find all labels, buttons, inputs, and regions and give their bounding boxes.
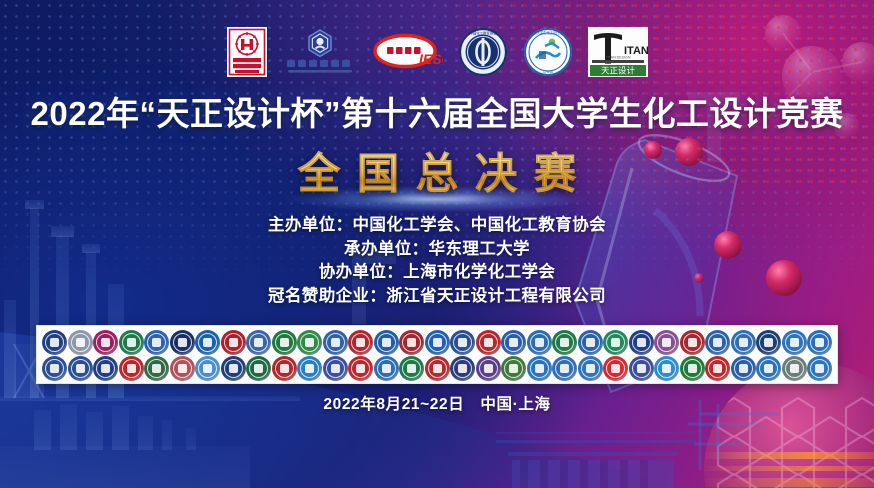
university-emblem (374, 356, 399, 381)
university-emblem (629, 356, 654, 381)
university-emblem (654, 356, 679, 381)
university-emblem (399, 330, 424, 355)
university-emblem (42, 356, 67, 381)
university-emblem (756, 356, 781, 381)
svg-text:IESC: IESC (419, 51, 443, 67)
university-emblem (654, 330, 679, 355)
university-emblem (501, 330, 526, 355)
emblem-row-top (42, 329, 832, 355)
university-emblem (552, 356, 577, 381)
university-emblem (680, 356, 705, 381)
university-emblem (195, 356, 220, 381)
university-emblem (119, 356, 144, 381)
university-emblem (323, 330, 348, 355)
university-emblem (144, 330, 169, 355)
university-emblem (195, 330, 220, 355)
svg-text:CHINA: CHINA (543, 70, 554, 74)
building-facade (496, 424, 774, 488)
university-emblem (782, 356, 807, 381)
university-emblem (501, 356, 526, 381)
info-line-title-sponsor: 冠名赞助企业：浙江省天正设计工程有限公司 (0, 285, 874, 309)
university-emblem (476, 356, 501, 381)
emblem-row-bottom (42, 355, 832, 381)
university-emblem (42, 330, 67, 355)
university-emblem (246, 330, 271, 355)
university-emblem (731, 356, 756, 381)
university-emblem (629, 330, 654, 355)
chemical-education-assoc-logo: 中国化工教育协会 (458, 27, 508, 77)
info-line-coorganizer: 协办单位：上海市化学化工学会 (0, 261, 874, 285)
info-line-undertaker: 承办单位：华东理工大学 (0, 238, 874, 262)
university-emblem (603, 330, 628, 355)
university-emblem (170, 330, 195, 355)
university-emblem (246, 356, 271, 381)
university-emblem (527, 356, 552, 381)
university-emblem (782, 330, 807, 355)
svg-text:中国化工教育协会: 中国化工教育协会 (469, 30, 497, 35)
university-emblem (731, 330, 756, 355)
university-emblem (807, 330, 832, 355)
university-emblem (680, 330, 705, 355)
page-title: 2022年“天正设计杯”第十六届全国大学生化工设计竞赛 (0, 96, 874, 132)
university-emblem (221, 356, 246, 381)
university-emblem (297, 356, 322, 381)
university-emblem (425, 356, 450, 381)
university-emblem (578, 356, 603, 381)
organizer-info-block: 主办单位：中国化工学会、中国化工教育协会 承办单位：华东理工大学 协办单位：上海… (0, 214, 874, 308)
university-emblem (603, 356, 628, 381)
university-emblem (450, 356, 475, 381)
ciesc-logo: IESC (373, 27, 443, 77)
university-emblem (119, 330, 144, 355)
sub-title: 全国总决赛 (0, 146, 874, 203)
university-emblem (807, 356, 832, 381)
university-emblem (323, 356, 348, 381)
shanghai-chemical-society-logo (282, 27, 358, 77)
titan-design-logo: ITAN TITAN DESIGN 天正设计 (588, 27, 648, 77)
university-emblem (374, 330, 399, 355)
sponsor-logo-row: IESC 中国化工教育协会 (0, 26, 874, 78)
ecust-70th-anniversary-logo (227, 27, 267, 77)
university-emblem (552, 330, 577, 355)
university-emblem-strip (36, 325, 838, 384)
university-emblem (705, 356, 730, 381)
competition-organizer-logo: 全国大学生化工设计竞赛 CHINA (523, 27, 573, 77)
university-emblem (93, 356, 118, 381)
university-emblem (93, 330, 118, 355)
university-emblem (272, 330, 297, 355)
university-emblem (705, 330, 730, 355)
poster-banner: IESC 中国化工教育协会 (0, 0, 874, 488)
university-emblem (221, 330, 246, 355)
university-emblem (756, 330, 781, 355)
svg-text:TITAN DESIGN: TITAN DESIGN (605, 56, 630, 60)
university-emblem (170, 356, 195, 381)
university-emblem (297, 330, 322, 355)
university-emblem (399, 356, 424, 381)
university-emblem (425, 330, 450, 355)
university-emblem (348, 356, 373, 381)
university-emblem (144, 356, 169, 381)
university-emblem (68, 356, 93, 381)
university-emblem (348, 330, 373, 355)
university-emblem (578, 330, 603, 355)
university-emblem (68, 330, 93, 355)
svg-text:天正设计: 天正设计 (600, 66, 635, 77)
date-location-line: 2022年8月21~22日 中国·上海 (0, 392, 874, 414)
university-emblem (450, 330, 475, 355)
university-emblem (476, 330, 501, 355)
university-emblem (272, 356, 297, 381)
info-line-host: 主办单位：中国化工学会、中国化工教育协会 (0, 214, 874, 238)
svg-text:全国大学生化工设计竞赛: 全国大学生化工设计竞赛 (530, 30, 566, 35)
university-emblem (527, 330, 552, 355)
